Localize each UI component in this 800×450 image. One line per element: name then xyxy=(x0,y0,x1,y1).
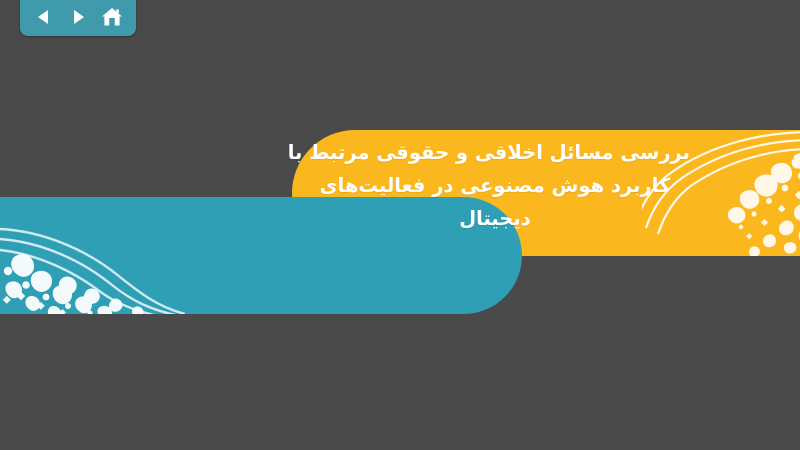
slide-title-line-3: دیجیتال xyxy=(300,202,690,235)
home-button[interactable] xyxy=(99,4,125,30)
slide-title: بررسی مسائل اخلاقی و حقوقی مرتبط با کارب… xyxy=(300,136,690,235)
triangle-left-icon xyxy=(35,8,53,26)
previous-slide-button[interactable] xyxy=(31,4,57,30)
next-slide-button[interactable] xyxy=(65,4,91,30)
slide-navigation-bar xyxy=(20,0,136,36)
slide-title-line-2: کاربرد هوش مصنوعی در فعالیت‌های xyxy=(300,169,690,202)
triangle-right-icon xyxy=(69,8,87,26)
slide-title-line-1: بررسی مسائل اخلاقی و حقوقی مرتبط با xyxy=(300,136,690,169)
presentation-slide: بررسی مسائل اخلاقی و حقوقی مرتبط با کارب… xyxy=(0,0,800,450)
home-icon xyxy=(101,7,123,27)
teal-banner-ornament xyxy=(0,197,185,314)
